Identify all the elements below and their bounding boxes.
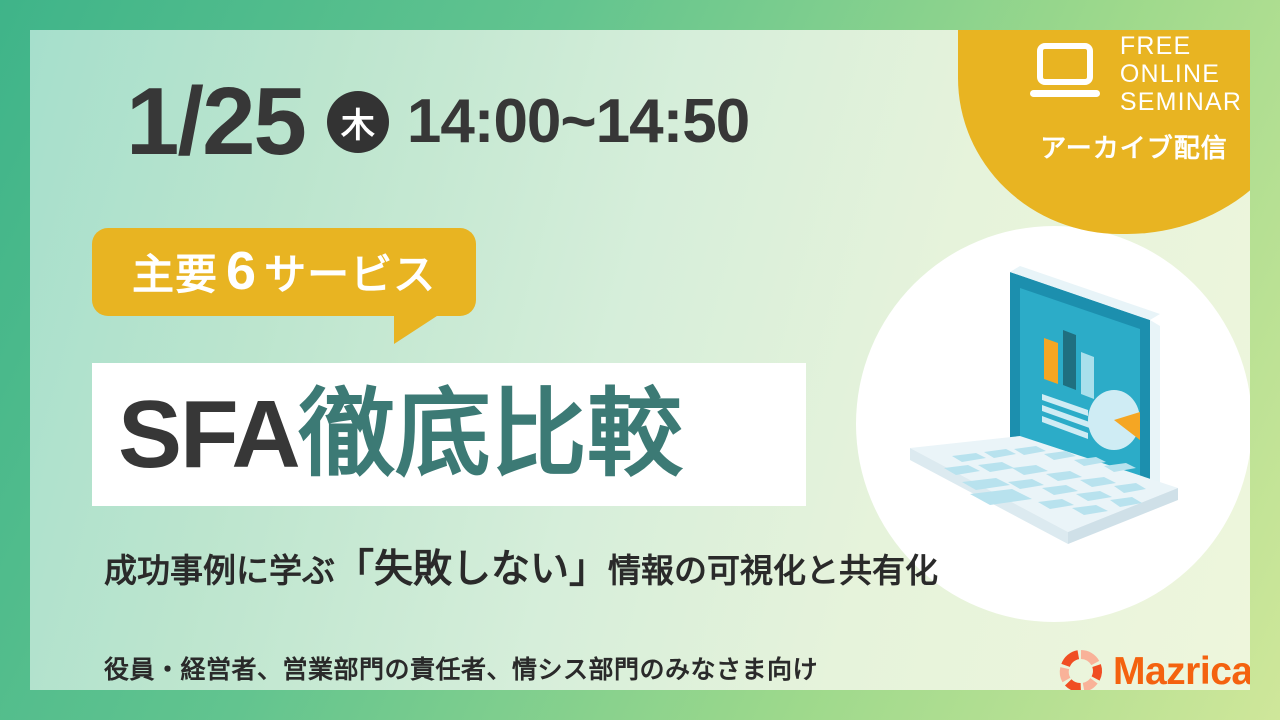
mazrica-logo: Mazrica [1058,648,1250,690]
services-count-bubble: 主要 6 サービス [92,228,476,316]
free-online-seminar-badge: FREE ONLINE SEMINAR アーカイブ配信 [958,30,1250,234]
mazrica-wordmark: Mazrica [1113,652,1250,691]
bubble-prefix: 主要 [132,241,218,302]
archive-delivery-label: アーカイブ配信 [1040,128,1227,165]
seminar-banner: FREE ONLINE SEMINAR アーカイブ配信 1/25 木 14:00… [0,0,1280,720]
badge-line-seminar: SEMINAR [1120,88,1242,116]
main-title-band: SFA 徹底比較 [92,363,806,506]
bubble-suffix: サービス [264,241,436,302]
day-of-week-badge: 木 [327,91,389,153]
banner-inner-panel: FREE ONLINE SEMINAR アーカイブ配信 1/25 木 14:00… [30,30,1250,690]
laptop-icon [1026,40,1104,108]
badge-line-online: ONLINE [1120,60,1242,88]
target-audience-text: 役員・経営者、営業部門の責任者、情シス部門のみなさま向け [104,650,818,686]
event-time: 14:00~14:50 [407,91,749,153]
badge-line-free: FREE [1120,32,1242,60]
subtitle-part3: 情報の可視化と共有化 [608,544,938,592]
subtitle-part1: 成功事例に学ぶ [104,544,335,592]
title-english: SFA [118,387,299,483]
subtitle: 成功事例に学ぶ 「失敗しない」 情報の可視化と共有化 [104,538,938,594]
event-date: 1/25 [126,74,305,170]
title-japanese: 徹底比較 [299,387,683,483]
subtitle-part2: 「失敗しない」 [335,538,608,594]
schedule-row: 1/25 木 14:00~14:50 [126,74,749,170]
isometric-laptop-illustration [892,242,1232,572]
mazrica-ring-icon [1058,648,1104,690]
bubble-number: 6 [218,240,264,302]
